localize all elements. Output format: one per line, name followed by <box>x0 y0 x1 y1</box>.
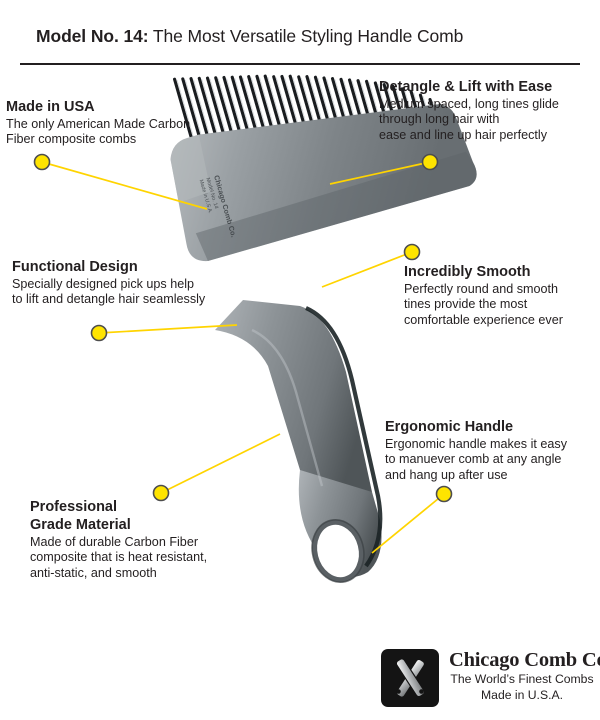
callout-body-line: Fiber composite combs <box>6 132 190 147</box>
callout-body: Medium spaced, long tines glide through … <box>379 97 559 143</box>
callout-title: Detangle & Lift with Ease <box>379 79 559 96</box>
callout-body-line: ease and line up hair perfectly <box>379 128 559 143</box>
callout-body: Made of durable Carbon Fiber composite t… <box>30 535 207 581</box>
callout-body-line: tines provide the most <box>404 297 563 312</box>
brand-logo: Chicago Comb Co. * The World’s Finest Co… <box>381 648 593 710</box>
callout-body: Ergonomic handle makes it easy to manuev… <box>385 437 567 483</box>
callout-body-line: anti-static, and smooth <box>30 566 207 581</box>
callout-body-line: composite that is heat resistant, <box>30 550 207 565</box>
callout-body-line: and hang up after use <box>385 468 567 483</box>
callout-ergonomic-handle: Ergonomic Handle Ergonomic handle makes … <box>385 419 567 483</box>
brand-name-text: Chicago Comb Co. <box>449 649 600 671</box>
callout-title-second-line: Grade Material <box>30 517 207 534</box>
brand-tagline-1: The World’s Finest Combs <box>449 672 595 688</box>
callout-made-in-usa: Made in USA The only American Made Carbo… <box>6 99 190 148</box>
callout-title: Incredibly Smooth <box>404 264 563 281</box>
callout-title: Professional <box>30 499 207 516</box>
callout-title: Ergonomic Handle <box>385 419 567 436</box>
brand-text-block: Chicago Comb Co. * The World’s Finest Co… <box>449 648 595 703</box>
callout-body-line: through long hair with <box>379 112 559 127</box>
callout-body: The only American Made Carbon Fiber comp… <box>6 117 190 148</box>
callout-body-line: comfortable experience ever <box>404 313 563 328</box>
callout-title: Functional Design <box>12 259 205 276</box>
callout-body-line: to lift and detangle hair seamlessly <box>12 292 205 307</box>
comb-handle <box>215 300 382 588</box>
callout-body: Perfectly round and smooth tines provide… <box>404 282 563 328</box>
callout-body-line: to manuever comb at any angle <box>385 452 567 467</box>
callout-body-line: The only American Made Carbon <box>6 117 190 132</box>
callout-professional-grade-material: Professional Grade Material Made of dura… <box>30 499 207 581</box>
brand-tagline-2: Made in U.S.A. <box>449 688 595 704</box>
callout-body-line: Made of durable Carbon Fiber <box>30 535 207 550</box>
callout-body-line: Specially designed pick ups help <box>12 277 205 292</box>
callout-detangle: Detangle & Lift with Ease Medium spaced,… <box>379 79 559 143</box>
callout-body-line: Perfectly round and smooth <box>404 282 563 297</box>
callout-body: Specially designed pick ups help to lift… <box>12 277 205 308</box>
crossed-combs-logo-icon <box>381 649 439 707</box>
callout-title: Made in USA <box>6 99 190 116</box>
callout-functional-design: Functional Design Specially designed pic… <box>12 259 205 308</box>
callout-body-line: Medium spaced, long tines glide <box>379 97 559 112</box>
brand-name: Chicago Comb Co. * <box>449 648 600 672</box>
callout-body-line: Ergonomic handle makes it easy <box>385 437 567 452</box>
callout-incredibly-smooth: Incredibly Smooth Perfectly round and sm… <box>404 264 563 328</box>
